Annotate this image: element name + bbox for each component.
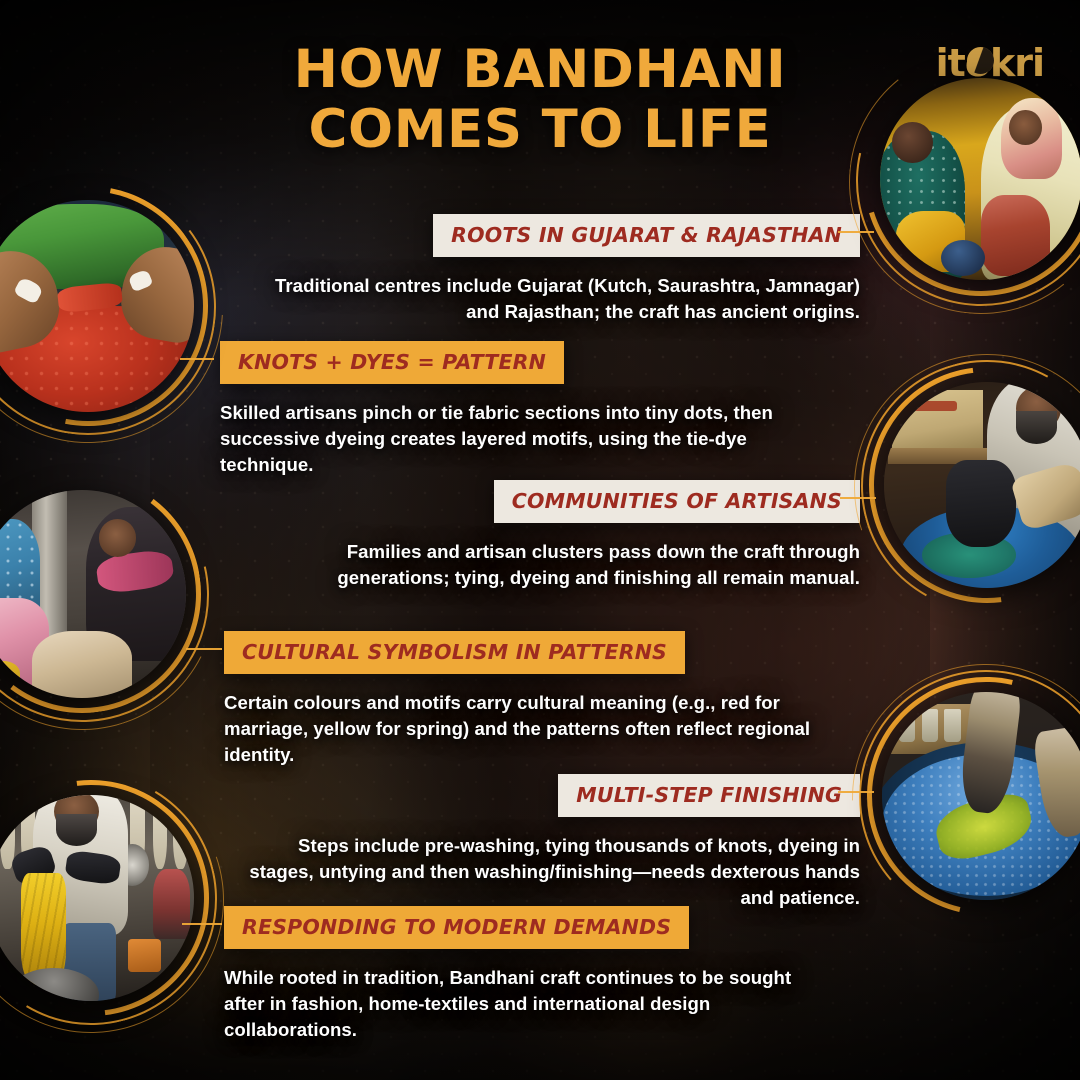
section-heading-finishing: MULTI-STEP FINISHING: [558, 774, 860, 817]
photo-women-tying-yellow-room: [880, 78, 1080, 280]
section-heading-symbolism: CULTURAL SYMBOLISM IN PATTERNS: [224, 631, 685, 674]
section-heading-roots: ROOTS IN GUJARAT & RAJASTHAN: [433, 214, 860, 257]
photo-blue-dye-vat: [882, 692, 1080, 900]
photo-lifting-yellow-hanks: [0, 795, 194, 1001]
section-heading-communities: COMMUNITIES OF ARTISANS: [494, 480, 860, 523]
connector-line-modern: [182, 923, 222, 925]
section-body-roots: Traditional centres include Gujarat (Kut…: [240, 273, 860, 325]
section-heading-knots-dyes: KNOTS + DYES = PATTERN: [220, 341, 564, 384]
connector-line-roots: [838, 231, 874, 233]
photo-disc: [884, 382, 1080, 588]
logo-circle-slice: [967, 47, 994, 74]
connector-line-communities: [840, 497, 876, 499]
photo-disc: [880, 78, 1080, 280]
page-title-line-1: HOW BANDHANI: [294, 39, 787, 100]
photo-disc: [882, 692, 1080, 900]
section-heading-modern-demands: RESPONDING TO MODERN DEMANDS: [224, 906, 689, 949]
connector-line-finishing: [838, 791, 874, 793]
section-finishing: MULTI-STEP FINISHING Steps include pre-w…: [240, 774, 860, 911]
photo-dyer-blue-tub: [884, 382, 1080, 588]
photo-disc: [0, 490, 186, 698]
photo-hands-tying-red-fabric: [0, 200, 194, 412]
section-symbolism: CULTURAL SYMBOLISM IN PATTERNS Certain c…: [224, 631, 824, 768]
section-body-modern-demands: While rooted in tradition, Bandhani craf…: [224, 965, 824, 1043]
section-communities: COMMUNITIES OF ARTISANS Families and art…: [240, 480, 860, 591]
connector-line-symbolism: [186, 648, 222, 650]
section-body-symbolism: Certain colours and motifs carry cultura…: [224, 690, 824, 768]
section-body-knots-dyes: Skilled artisans pinch or tie fabric sec…: [220, 400, 820, 478]
section-knots-dyes: KNOTS + DYES = PATTERN Skilled artisans …: [220, 341, 820, 478]
section-modern-demands: RESPONDING TO MODERN DEMANDS While roote…: [224, 906, 824, 1043]
photo-disc: [0, 795, 194, 1001]
section-roots: ROOTS IN GUJARAT & RAJASTHAN Traditional…: [240, 214, 860, 325]
connector-line-knots: [180, 358, 214, 360]
section-body-communities: Families and artisan clusters pass down …: [240, 539, 860, 591]
section-body-finishing: Steps include pre-washing, tying thousan…: [240, 833, 860, 911]
photo-disc: [0, 200, 194, 412]
photo-women-tying-courtyard: [0, 490, 186, 698]
